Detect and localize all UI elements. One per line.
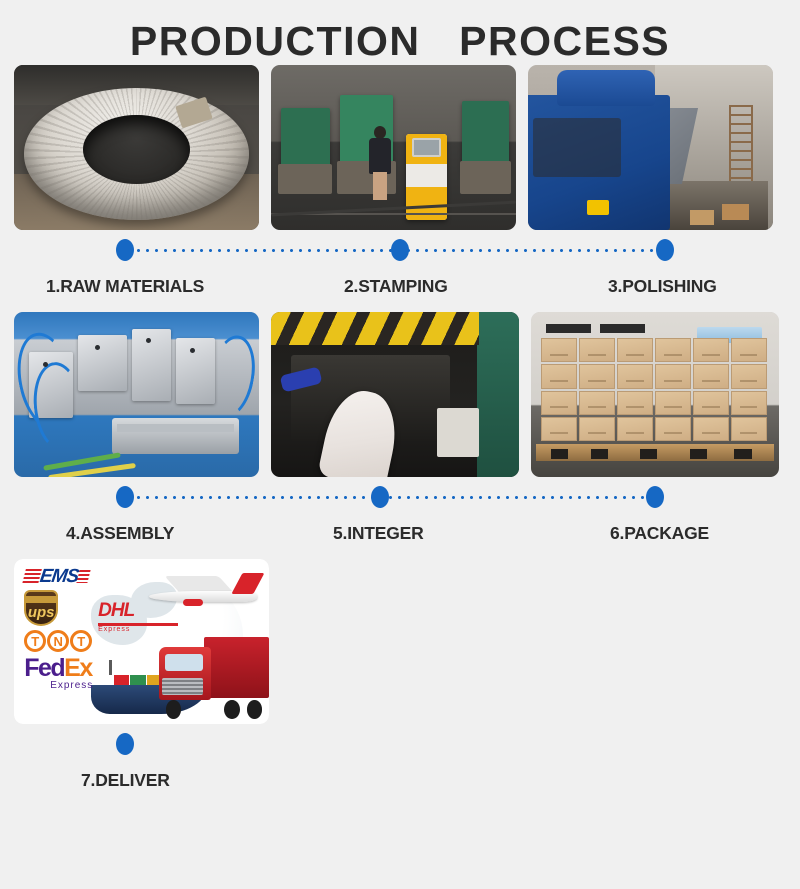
row-3-connector — [0, 724, 800, 764]
step-image-stamping[interactable] — [271, 65, 516, 230]
row-1-connector — [0, 230, 800, 270]
step-dot-5[interactable] — [371, 486, 389, 508]
polishing-machine-illustration — [528, 65, 773, 230]
ems-logo-text: EMS — [39, 567, 80, 586]
courier-logo-column: EMS ups T N T FedEx Express — [24, 567, 136, 695]
step-label-deliver: 7.DELIVER — [81, 770, 170, 791]
row-1-labels: 1.RAW MATERIALS 2.STAMPING 3.POLISHING — [0, 270, 800, 312]
ems-stripes-icon-right — [77, 570, 91, 583]
assembly-machine-illustration — [14, 312, 259, 477]
ups-logo: ups — [24, 590, 58, 626]
step-dot-2[interactable] — [391, 239, 409, 261]
step-image-polishing[interactable] — [528, 65, 773, 230]
steel-coil-illustration — [14, 65, 259, 230]
fedex-logo-fed: Fed — [24, 654, 64, 682]
delivery-couriers-illustration: DHL Express EMS ups T — [14, 559, 269, 724]
step-dot-6[interactable] — [646, 486, 664, 508]
step-label-polishing: 3.POLISHING — [608, 276, 717, 297]
step-label-assembly: 4.ASSEMBLY — [66, 523, 174, 544]
step-image-integer[interactable] — [271, 312, 519, 477]
tnt-letter-3: T — [70, 630, 92, 652]
step-image-deliver[interactable]: DHL Express EMS ups T — [14, 559, 269, 724]
step-image-raw-materials[interactable] — [14, 65, 259, 230]
ems-logo: EMS — [24, 567, 136, 586]
row-2-cards — [0, 312, 800, 477]
step-label-integer: 5.INTEGER — [333, 523, 424, 544]
step-image-assembly[interactable] — [14, 312, 259, 477]
tnt-logo: T N T — [24, 630, 136, 652]
connector-line-2 — [125, 496, 655, 499]
row-3-labels: 7.DELIVER — [0, 764, 800, 806]
row-3-cards: DHL Express EMS ups T — [0, 559, 800, 724]
fedex-logo-subtext: Express — [50, 681, 136, 691]
process-row-3: DHL Express EMS ups T — [0, 559, 800, 806]
step-dot-7[interactable] — [116, 733, 134, 755]
stamping-press-illustration — [271, 65, 516, 230]
step-image-package[interactable] — [531, 312, 779, 477]
delivery-truck-icon — [157, 633, 269, 719]
row-2-labels: 4.ASSEMBLY 5.INTEGER 6.PACKAGE — [0, 517, 800, 559]
step-label-package: 6.PACKAGE — [610, 523, 709, 544]
row-1-cards — [0, 65, 800, 230]
integer-inspection-illustration — [271, 312, 519, 477]
page-title: PRODUCTION PROCESS — [0, 0, 800, 65]
process-row-1: 1.RAW MATERIALS 2.STAMPING 3.POLISHING — [0, 65, 800, 312]
ups-logo-text: ups — [26, 605, 56, 620]
tnt-letter-2: N — [47, 630, 69, 652]
step-dot-3[interactable] — [656, 239, 674, 261]
row-2-connector — [0, 477, 800, 517]
step-dot-4[interactable] — [116, 486, 134, 508]
fedex-logo: FedEx Express — [24, 656, 136, 691]
tnt-letter-1: T — [24, 630, 46, 652]
step-dot-1[interactable] — [116, 239, 134, 261]
packaging-cartons-illustration — [531, 312, 779, 477]
process-row-2: 4.ASSEMBLY 5.INTEGER 6.PACKAGE — [0, 312, 800, 559]
fedex-logo-ex: Ex — [64, 654, 92, 682]
step-label-raw-materials: 1.RAW MATERIALS — [46, 276, 204, 297]
step-label-stamping: 2.STAMPING — [344, 276, 448, 297]
